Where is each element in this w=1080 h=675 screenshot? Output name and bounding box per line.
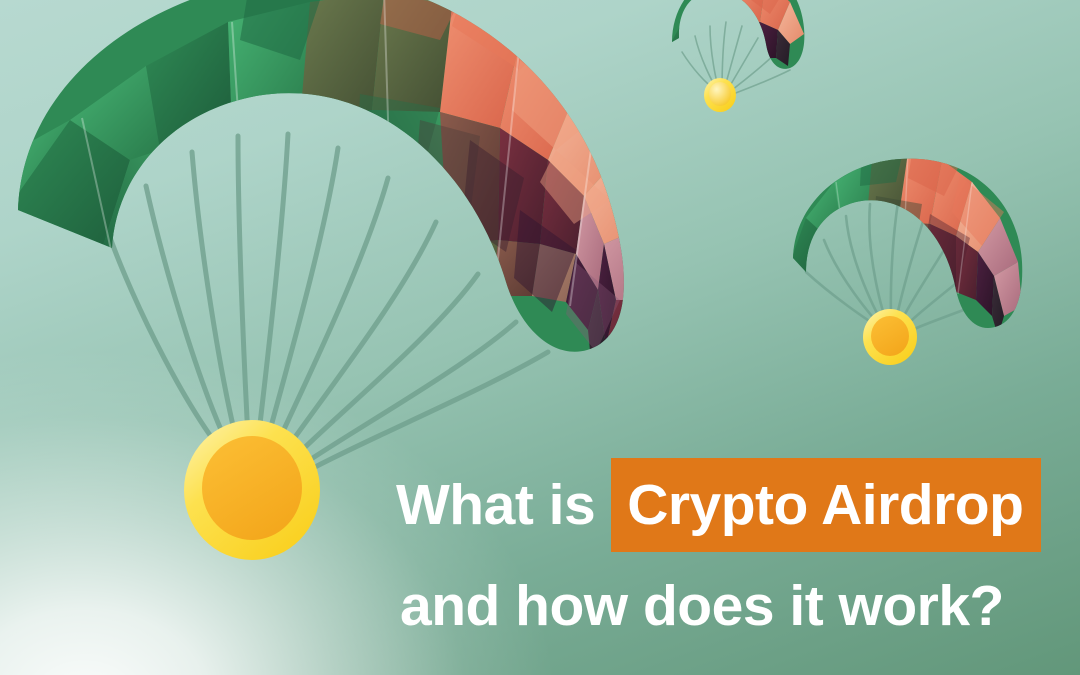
headline-line-2: and how does it work?	[396, 572, 1036, 640]
canopy-main	[0, 0, 700, 392]
canopy-mid-right	[780, 138, 1040, 340]
parachute-mid-right	[780, 138, 1040, 365]
coin-main	[184, 420, 320, 560]
parachute-small-top	[660, 0, 820, 112]
coin-mid-right	[863, 309, 917, 365]
headline: What isCrypto Airdrop and how does it wo…	[396, 458, 1036, 640]
headline-line-1: What isCrypto Airdrop	[396, 458, 1036, 552]
crypto-airdrop-banner: What isCrypto Airdrop and how does it wo…	[0, 0, 1080, 675]
headline-lead-text: What is	[396, 473, 611, 537]
coin-small-top	[704, 78, 736, 112]
headline-highlight-crypto-airdrop: Crypto Airdrop	[611, 458, 1041, 552]
